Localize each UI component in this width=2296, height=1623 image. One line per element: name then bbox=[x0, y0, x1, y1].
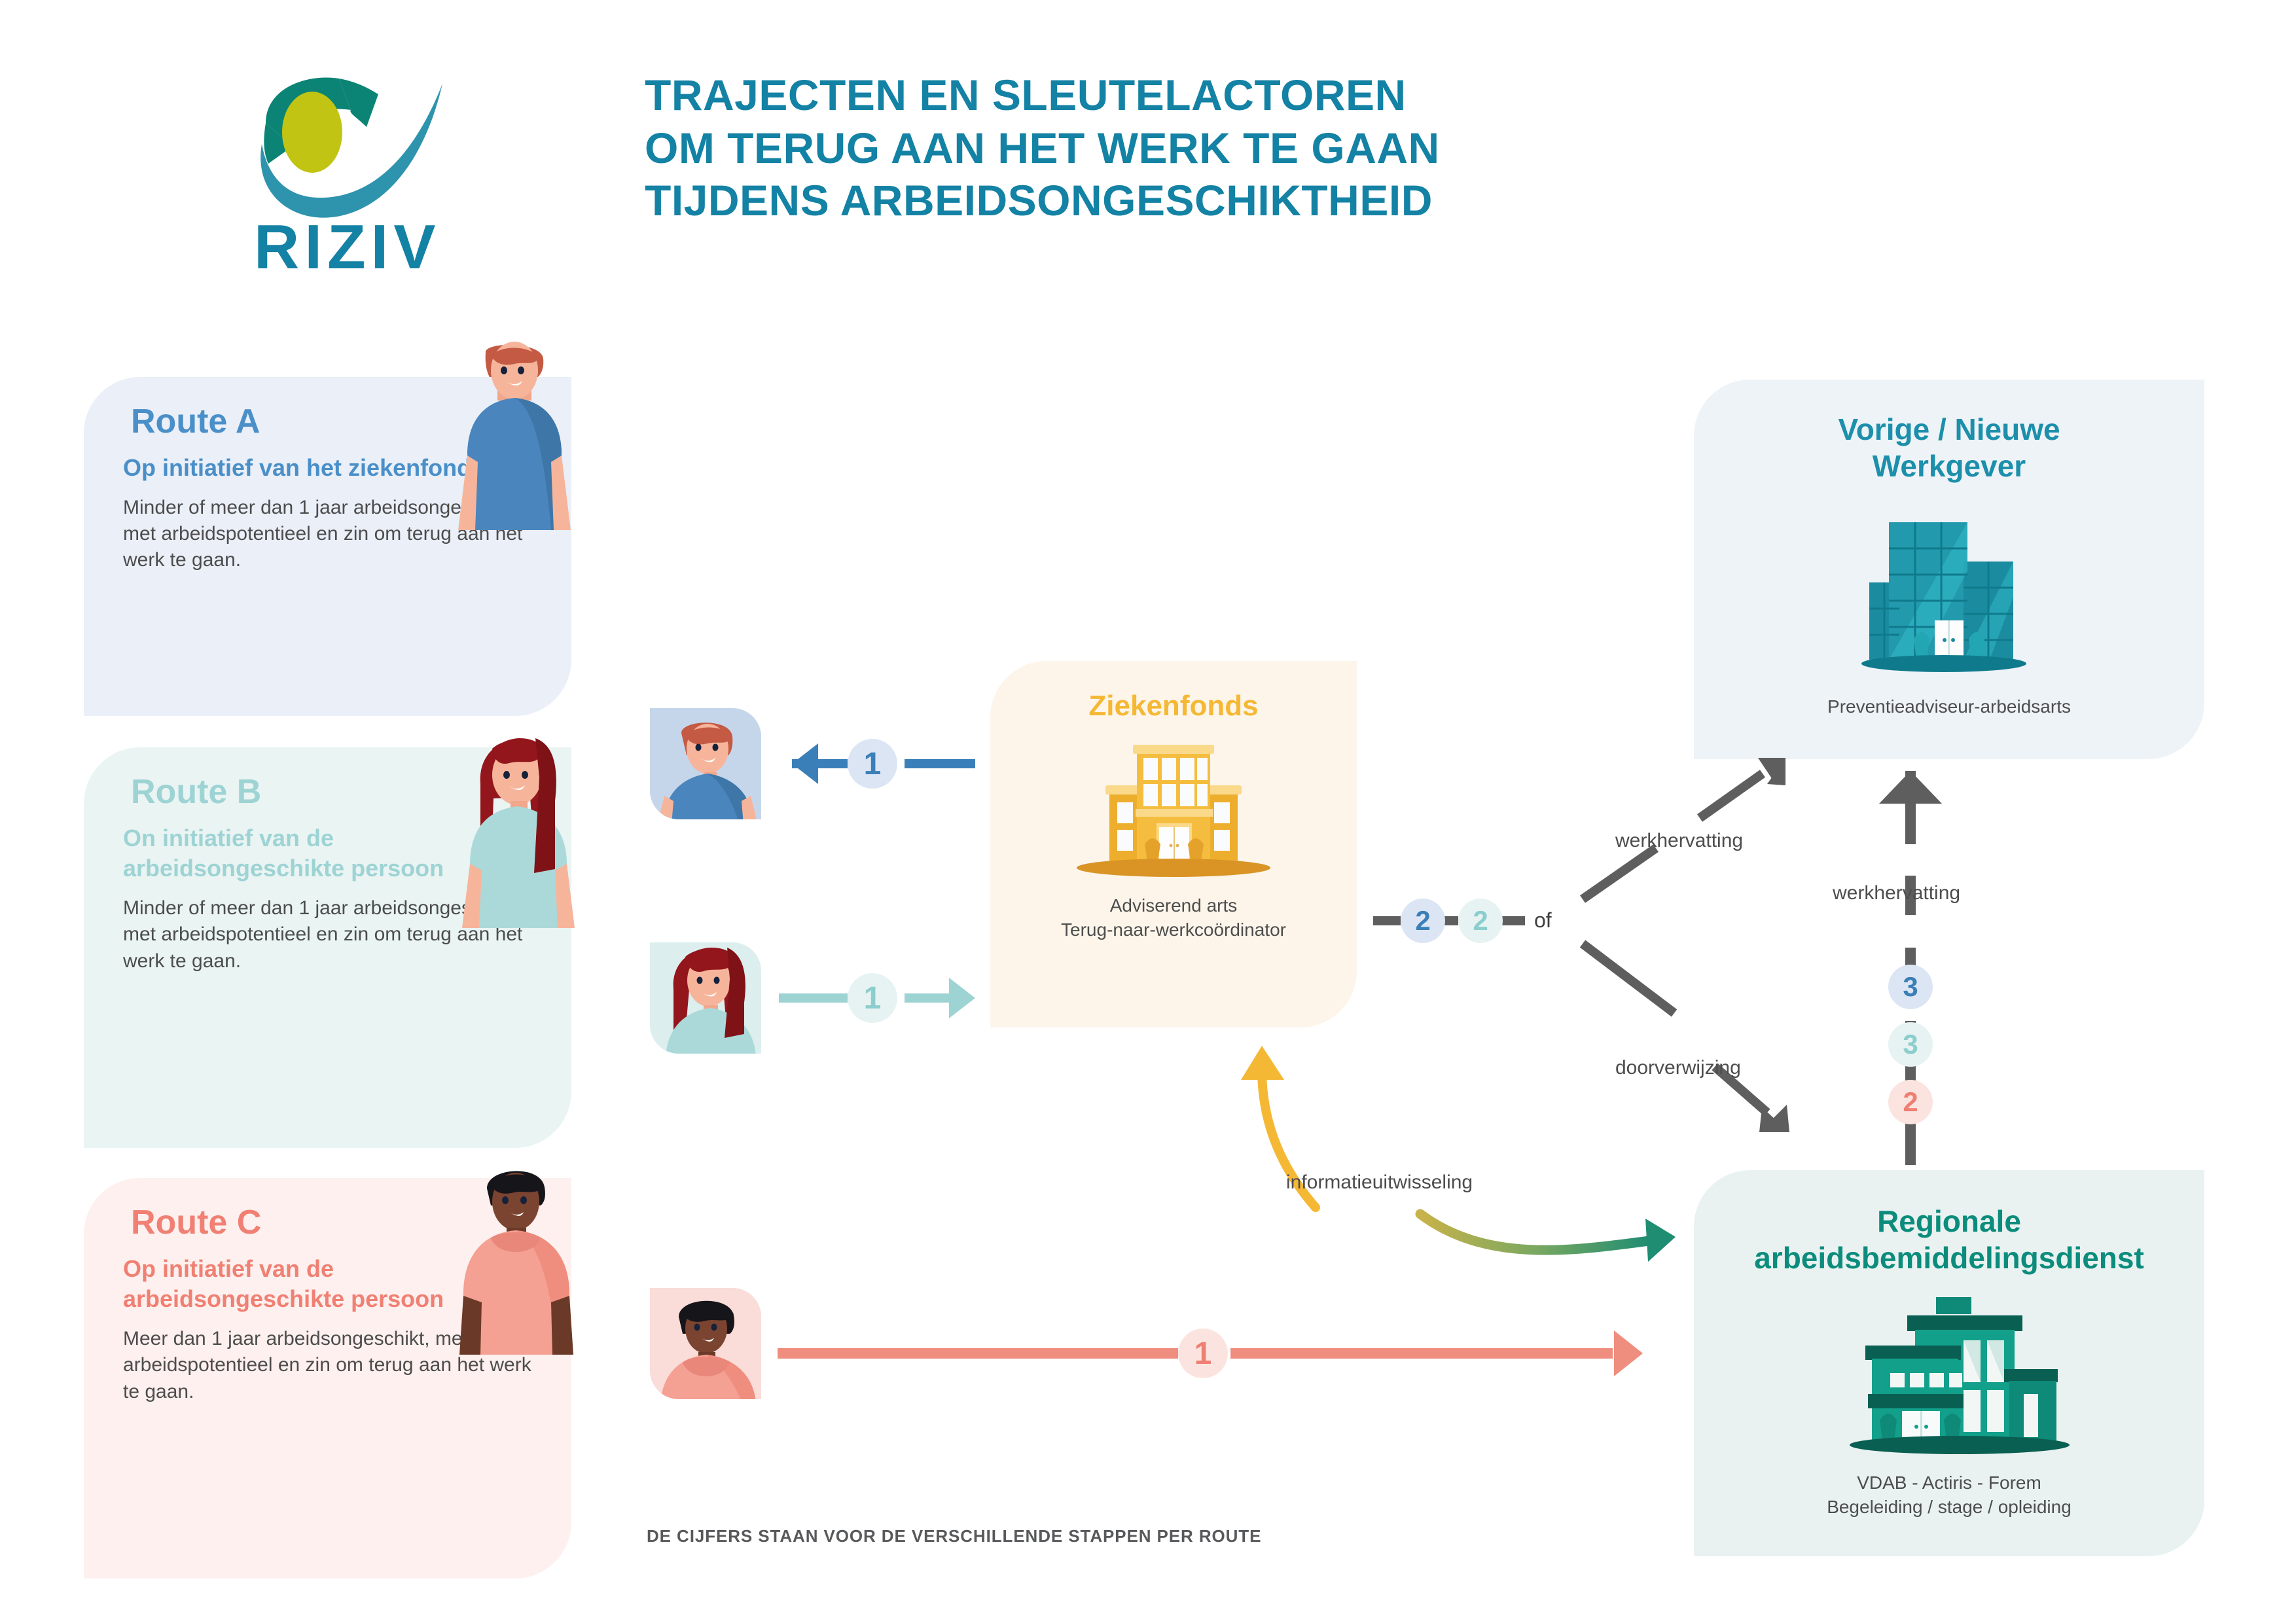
route-b-step-badge: 1 bbox=[848, 973, 897, 1023]
label-informatieuitwisseling: informatieuitwisseling bbox=[1286, 1171, 1473, 1194]
vertical-badge-1: 3 bbox=[1888, 965, 1933, 1009]
label-of: of bbox=[1534, 908, 1552, 933]
route-a-step-badge: 1 bbox=[848, 739, 897, 789]
label-doorverwijzing-branch: doorverwijzing bbox=[1615, 1057, 1741, 1079]
flow-arrows-layer bbox=[0, 0, 2296, 1623]
label-werkhervatting-branch: werkhervatting bbox=[1615, 830, 1743, 852]
label-werkhervatting-vertical: werkhervatting bbox=[1833, 882, 1960, 904]
junction-badge-1: 2 bbox=[1401, 899, 1445, 943]
route-c-step-badge: 1 bbox=[1178, 1329, 1228, 1378]
branch-doorverwijzing-arrow bbox=[1583, 944, 1789, 1132]
informatieuitwisseling-green-arrow bbox=[1420, 1214, 1676, 1262]
branch-werkhervatting-arrow bbox=[1583, 758, 1785, 899]
vertical-badge-3: 2 bbox=[1888, 1080, 1933, 1124]
vertical-badge-2: 3 bbox=[1888, 1022, 1933, 1067]
footer-note: DE CIJFERS STAAN VOOR DE VERSCHILLENDE S… bbox=[647, 1526, 1261, 1546]
junction-badge-2: 2 bbox=[1458, 899, 1503, 943]
